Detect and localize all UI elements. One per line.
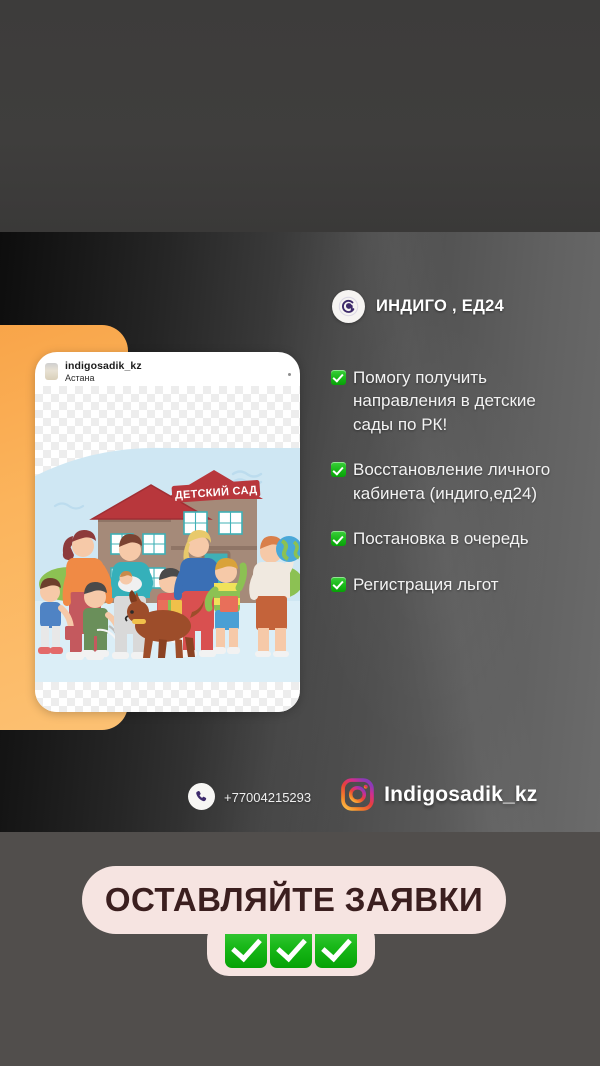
list-item: Помогу получить направления в детские са… <box>331 366 579 436</box>
post-username: indigosadik_kz <box>65 360 142 372</box>
green-check-icon <box>331 462 346 477</box>
green-check-icon <box>331 531 346 546</box>
cta-banner[interactable]: ОСТАВЛЯЙТЕ ЗАЯВКИ <box>82 866 506 934</box>
post-card-header: indigosadik_kz Астана <box>35 352 300 386</box>
at-sign-logo-icon <box>332 290 365 323</box>
list-item-label: Регистрация льгот <box>353 573 499 596</box>
instagram-post-card[interactable]: indigosadik_kz Астана <box>35 352 300 712</box>
list-item: Регистрация льгот <box>331 573 579 596</box>
contact-row: +77004215293 Indigosadik_kz <box>188 772 537 811</box>
instagram-handle: Indigosadik_kz <box>384 783 537 807</box>
more-options-icon[interactable] <box>288 373 291 376</box>
brand-header: ИНДИГО , ЕД24 <box>332 290 504 323</box>
benefits-list: Помогу получить направления в детские са… <box>331 366 579 596</box>
list-item: Постановка в очередь <box>331 527 579 550</box>
post-card-meta: indigosadik_kz Астана <box>65 360 142 383</box>
phone-number: +77004215293 <box>224 790 311 805</box>
instagram-icon[interactable] <box>341 778 374 811</box>
phone-icon[interactable] <box>188 783 215 810</box>
list-item-label: Постановка в очередь <box>353 527 529 550</box>
green-check-icon <box>331 577 346 592</box>
post-illustration: ДЕТСКИЙ САД <box>35 386 300 712</box>
post-location: Астана <box>65 373 142 383</box>
brand-name: ИНДИГО , ЕД24 <box>376 297 504 316</box>
kindergarten-illustration-svg: ДЕТСКИЙ САД <box>35 386 300 712</box>
list-item-label: Восстановление личного кабинета (индиго,… <box>353 458 579 505</box>
top-background-band <box>0 0 600 232</box>
green-check-icon <box>331 370 346 385</box>
cta-label: ОСТАВЛЯЙТЕ ЗАЯВКИ <box>105 881 483 919</box>
list-item: Восстановление личного кабинета (индиго,… <box>331 458 579 505</box>
story-screenshot: indigosadik_kz Астана <box>0 0 600 1066</box>
profile-avatar-icon <box>45 363 58 380</box>
list-item-label: Помогу получить направления в детские са… <box>353 366 579 436</box>
